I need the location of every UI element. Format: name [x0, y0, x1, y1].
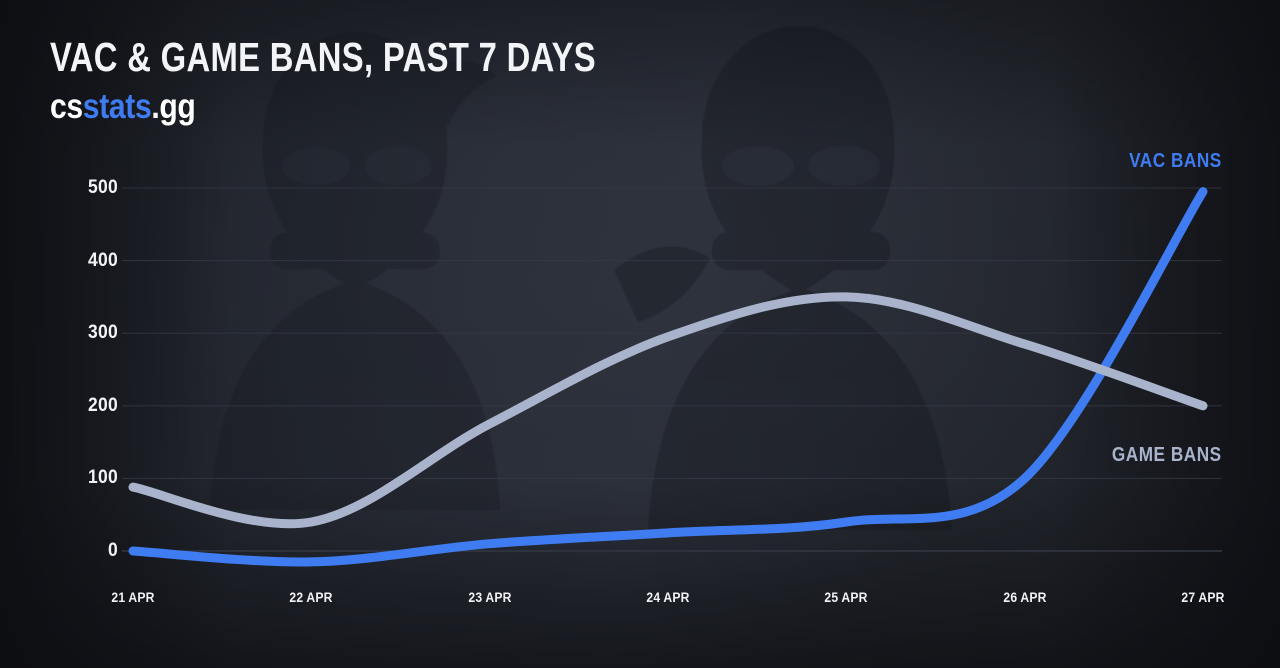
x-axis-tick-label: 22 APR	[290, 590, 333, 605]
y-axis-labels: 0100200300400500	[58, 0, 118, 668]
y-axis-tick-label: 0	[63, 540, 118, 562]
series-line-game-bans	[133, 297, 1203, 524]
x-axis-tick-label: 24 APR	[646, 590, 689, 605]
chart-canvas: VAC & GAME BANS, PAST 7 DAYS csstats.gg …	[0, 0, 1280, 668]
y-axis-tick-label: 500	[63, 177, 118, 199]
y-axis-tick-label: 100	[63, 467, 118, 489]
series-line-vac-bans	[133, 192, 1203, 562]
series-lines	[0, 0, 1280, 668]
plot-area: 0100200300400500 21 APR22 APR23 APR24 AP…	[0, 0, 1280, 668]
series-label-vac-bans: VAC BANS	[1129, 150, 1222, 173]
y-axis-tick-label: 400	[63, 250, 118, 272]
series-label-game-bans: GAME BANS	[1112, 444, 1222, 467]
x-axis-tick-label: 27 APR	[1181, 590, 1224, 605]
y-axis-tick-label: 300	[63, 322, 118, 344]
x-axis-tick-label: 21 APR	[111, 590, 154, 605]
x-axis-tick-label: 25 APR	[825, 590, 868, 605]
x-axis-tick-label: 26 APR	[1003, 590, 1046, 605]
x-axis-tick-label: 23 APR	[468, 590, 511, 605]
y-axis-tick-label: 200	[63, 395, 118, 417]
